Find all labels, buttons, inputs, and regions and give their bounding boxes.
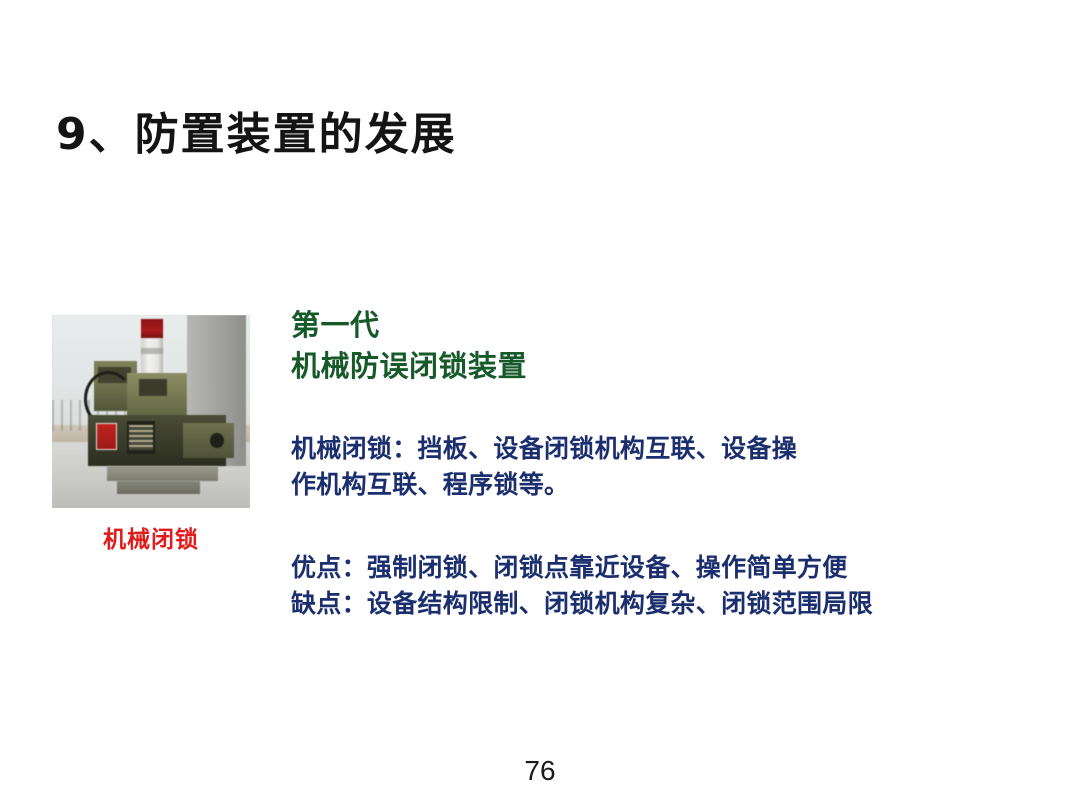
content-column: 第一代 机械防误闭锁装置 机械闭锁：挡板、设备闭锁机构互联、设备操 作机构互联、…	[291, 305, 1051, 621]
photo-right-bracket	[183, 423, 234, 458]
spacer-paragraph-proscons	[291, 502, 1051, 550]
photo-base-plate	[107, 466, 218, 481]
generation-heading-line1: 第一代	[291, 305, 1051, 346]
description-line2: 作机构互联、程序锁等。	[291, 467, 1051, 503]
figure-mechanical-interlock: 机械闭锁	[52, 315, 250, 508]
slide-canvas: 9、防置装置的发展 机械闭锁 第一代	[0, 0, 1080, 809]
photo-red-label-plate	[96, 423, 118, 450]
spacer-heading-paragraph	[291, 387, 1051, 431]
description-line1: 机械闭锁：挡板、设备闭锁机构互联、设备操	[291, 431, 1051, 467]
photo-mechanism-slot	[139, 379, 167, 396]
page-title: 9、防置装置的发展	[56, 110, 457, 161]
photo-insulator-band	[141, 348, 163, 354]
photo-insulator-red-cap	[141, 319, 163, 338]
generation-heading-line2: 机械防误闭锁装置	[291, 346, 1051, 387]
advantages-line: 优点：强制闭锁、闭锁点靠近设备、操作简单方便	[291, 550, 1051, 586]
mechanical-interlock-device-photo	[52, 315, 250, 508]
figure-caption: 机械闭锁	[52, 520, 250, 554]
photo-lock-bars	[129, 425, 153, 450]
disadvantages-line: 缺点：设备结构限制、闭锁机构复杂、闭锁范围局限	[291, 586, 1051, 622]
page-number: 76	[0, 755, 1080, 787]
photo-base-plate-lower	[117, 481, 200, 495]
